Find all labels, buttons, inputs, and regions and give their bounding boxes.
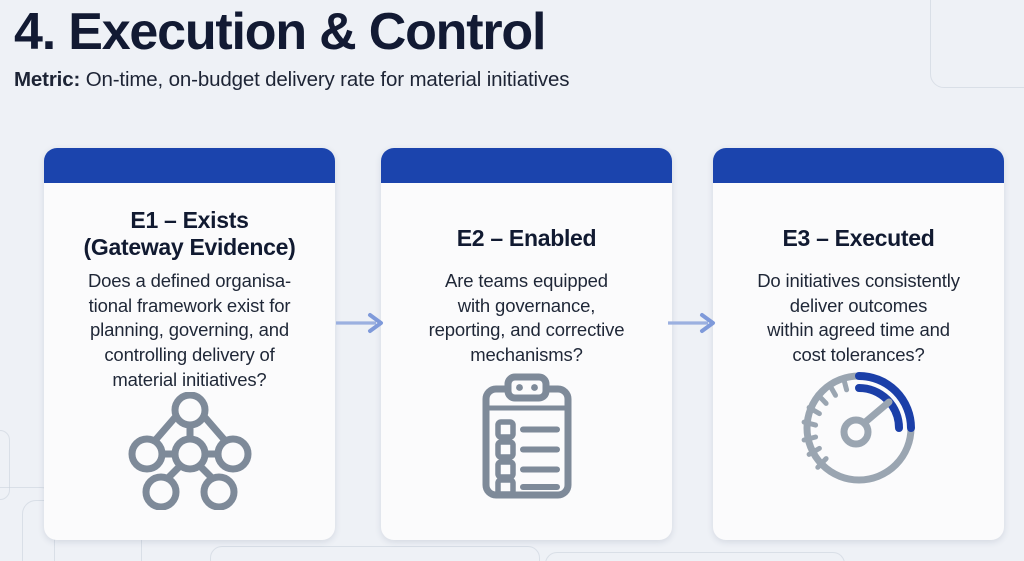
card-body: E3 – Executed Do initiatives consistentl… (713, 183, 1004, 540)
card-header-band (381, 148, 672, 183)
card-description-line: planning, governing, and (88, 318, 291, 343)
card-title: E1 – Exists (Gateway Evidence) (84, 207, 296, 261)
card-title-line-1: E2 – Enabled (457, 225, 597, 252)
card-description-line: Does a defined organisa- (88, 269, 291, 294)
card-description-line: deliver outcomes (757, 294, 960, 319)
card-description-line: Are teams equipped (429, 269, 625, 294)
card-header-band (44, 148, 335, 183)
background-frame-bottom-center (210, 546, 540, 561)
card-body: E1 – Exists (Gateway Evidence) Does a de… (44, 183, 335, 540)
card-title-line-1: E1 – Exists (84, 207, 296, 234)
card-description-line: Do initiatives consistently (757, 269, 960, 294)
card-row: E1 – Exists (Gateway Evidence) Does a de… (0, 148, 1024, 543)
card-description-line: mechanisms? (429, 343, 625, 368)
card-description-line: with governance, (429, 294, 625, 319)
network-hierarchy-icon (128, 392, 252, 515)
gauge-speedometer-icon (797, 369, 921, 492)
card-description: Are teams equipped with governance, repo… (429, 269, 625, 367)
arrow-e2-to-e3 (668, 312, 718, 334)
slide-header: 4. Execution & Control Metric: On-time, … (14, 4, 1014, 92)
page-title: 4. Execution & Control (14, 4, 1014, 60)
metric-line: Metric: On-time, on-budget delivery rate… (14, 68, 1014, 92)
card-description: Does a defined organisa- tional framewor… (88, 269, 291, 392)
card-description-line: cost tolerances? (757, 343, 960, 368)
card-description-line: material initiatives? (88, 368, 291, 393)
background-frame-bottom-right (545, 552, 845, 561)
card-title-line-1: E3 – Executed (782, 225, 934, 252)
card-description-line: controlling delivery of (88, 343, 291, 368)
card-description-line: within agreed time and (757, 318, 960, 343)
metric-label: Metric: (14, 68, 80, 91)
slide-canvas: 4. Execution & Control Metric: On-time, … (0, 0, 1024, 561)
card-description: Do initiatives consistently deliver outc… (757, 269, 960, 367)
card-body: E2 – Enabled Are teams equipped with gov… (381, 183, 672, 540)
card-title-line-2: (Gateway Evidence) (84, 234, 296, 261)
card-e2[interactable]: E2 – Enabled Are teams equipped with gov… (381, 148, 672, 540)
card-e1[interactable]: E1 – Exists (Gateway Evidence) Does a de… (44, 148, 335, 540)
card-title: E2 – Enabled (457, 225, 597, 252)
card-header-band (713, 148, 1004, 183)
card-title: E3 – Executed (782, 225, 934, 252)
card-description-line: tional framework exist for (88, 294, 291, 319)
clipboard-checklist-icon (477, 373, 577, 508)
metric-value: On-time, on-budget delivery rate for mat… (80, 68, 569, 91)
card-description-line: reporting, and corrective (429, 318, 625, 343)
card-e3[interactable]: E3 – Executed Do initiatives consistentl… (713, 148, 1004, 540)
arrow-e1-to-e2 (336, 312, 386, 334)
